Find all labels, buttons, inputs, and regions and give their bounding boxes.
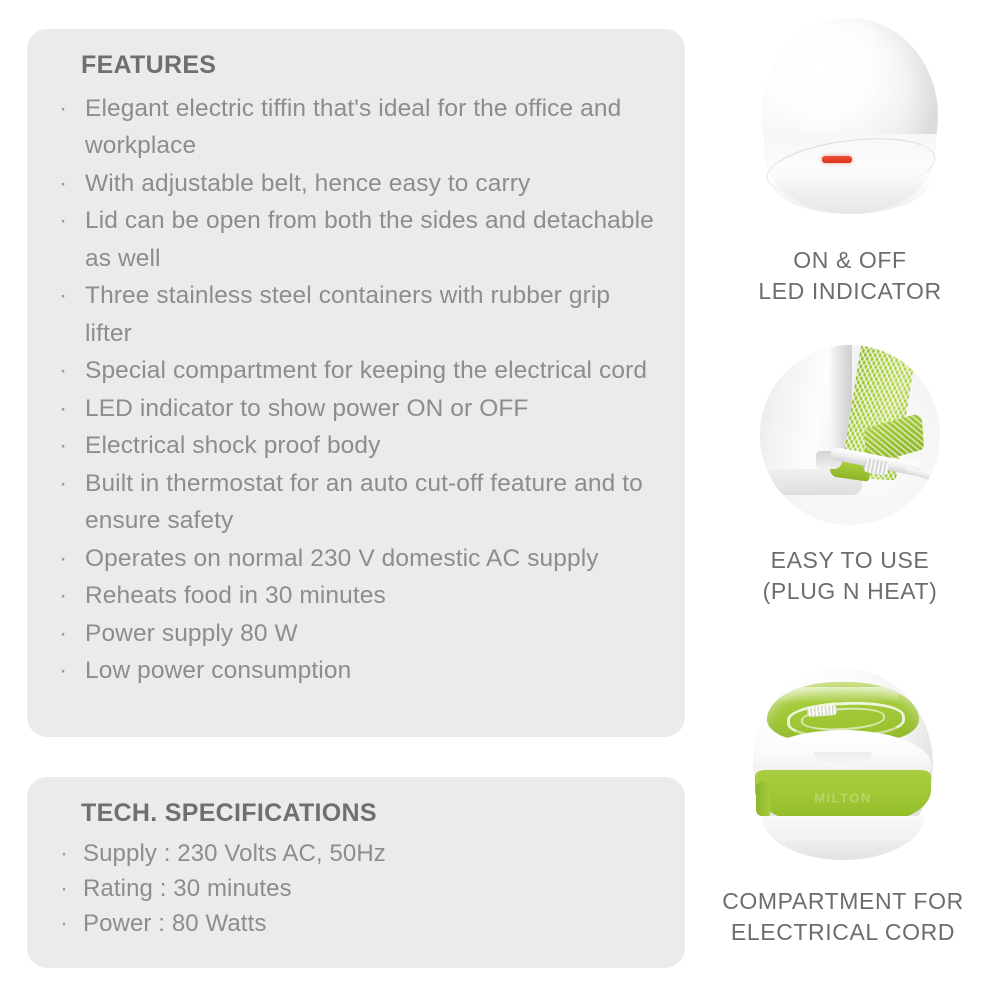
list-item-label: LED indicator to show power ON or OFF (85, 395, 529, 422)
bullet-dot-icon: · (60, 871, 68, 906)
bullet-dot-icon: · (59, 540, 67, 578)
plug-into-socket-with-green-belt-icon (760, 345, 940, 525)
bullet-dot-icon: · (59, 277, 67, 315)
tech-specifications-list: ·Supply : 230 Volts AC, 50Hz ·Rating : 3… (53, 836, 659, 941)
list-item: ·Electrical shock proof body (53, 427, 659, 465)
features-title: FEATURES (81, 52, 659, 80)
power-cord-wire (904, 467, 940, 485)
list-item-label: Lid can be open from both the sides and … (85, 207, 654, 272)
bullet-dot-icon: · (59, 90, 67, 128)
list-item: ·Elegant electric tiffin that's ideal fo… (53, 90, 659, 165)
tech-specifications-panel: TECH. SPECIFICATIONS ·Supply : 230 Volts… (27, 777, 685, 968)
lid-gloss-highlight (779, 687, 899, 703)
tech-specifications-title: TECH. SPECIFICATIONS (81, 800, 659, 828)
round-tiffin-with-green-cord-compartment-icon: MILTON (740, 664, 946, 864)
red-led-light-icon (822, 156, 852, 163)
list-item-label: Reheats food in 30 minutes (85, 582, 386, 609)
features-panel: FEATURES ·Elegant electric tiffin that's… (27, 29, 685, 737)
bullet-dot-icon: · (60, 836, 68, 871)
list-item: ·Low power consumption (53, 652, 659, 690)
list-item: ·Lid can be open from both the sides and… (53, 202, 659, 277)
list-item: ·Operates on normal 230 V domestic AC su… (53, 540, 659, 578)
list-item-label: Electrical shock proof body (85, 432, 380, 459)
bullet-dot-icon: · (59, 390, 67, 428)
list-item-label: Supply : 230 Volts AC, 50Hz (83, 840, 386, 867)
list-item: ·With adjustable belt, hence easy to car… (53, 165, 659, 203)
list-item-label: Operates on normal 230 V domestic AC sup… (85, 545, 599, 572)
figure-cord-compartment: MILTON COMPARTMENT FOR ELECTRICAL CORD (693, 664, 993, 948)
white-dome-with-red-led-icon (750, 14, 950, 219)
figure-easy-to-use: EASY TO USE (PLUG N HEAT) (700, 345, 1000, 607)
figure-led-indicator: ON & OFF LED INDICATOR (700, 14, 1000, 307)
list-item-label: Elegant electric tiffin that's ideal for… (85, 95, 621, 160)
list-item: ·Rating : 30 minutes (53, 871, 659, 906)
list-item-label: Power supply 80 W (85, 620, 298, 647)
bullet-dot-icon: · (59, 165, 67, 203)
bullet-dot-icon: · (59, 652, 67, 690)
list-item-label: Special compartment for keeping the elec… (85, 357, 647, 384)
cord-plug-head-icon (807, 705, 838, 717)
figure-caption: EASY TO USE (PLUG N HEAT) (700, 545, 1000, 607)
list-item-label: Built in thermostat for an auto cut-off … (85, 470, 643, 535)
bullet-dot-icon: · (59, 352, 67, 390)
bullet-dot-icon: · (59, 577, 67, 615)
list-item: ·Three stainless steel containers with r… (53, 277, 659, 352)
list-item-label: With adjustable belt, hence easy to carr… (85, 170, 530, 197)
bullet-dot-icon: · (59, 465, 67, 503)
list-item: ·Power supply 80 W (53, 615, 659, 653)
dome-bottom-shadow (770, 178, 930, 214)
list-item: ·Reheats food in 30 minutes (53, 577, 659, 615)
figure-caption: ON & OFF LED INDICATOR (700, 245, 1000, 307)
tiffin-bottom-shape (762, 816, 924, 860)
bullet-dot-icon: · (59, 202, 67, 240)
list-item: ·Built in thermostat for an auto cut-off… (53, 465, 659, 540)
list-item-label: Rating : 30 minutes (83, 875, 292, 902)
list-item: ·Power : 80 Watts (53, 906, 659, 941)
list-item-label: Three stainless steel containers with ru… (85, 282, 610, 347)
bullet-dot-icon: · (60, 906, 68, 941)
list-item: ·LED indicator to show power ON or OFF (53, 390, 659, 428)
bullet-dot-icon: · (59, 427, 67, 465)
list-item-label: Power : 80 Watts (83, 910, 266, 937)
brand-emboss-label: MILTON (814, 791, 872, 806)
bullet-dot-icon: · (59, 615, 67, 653)
features-list: ·Elegant electric tiffin that's ideal fo… (53, 90, 659, 690)
tiffin-side-clip (756, 782, 770, 816)
figure-caption: COMPARTMENT FOR ELECTRICAL CORD (693, 886, 993, 948)
list-item: ·Supply : 230 Volts AC, 50Hz (53, 836, 659, 871)
list-item: ·Special compartment for keeping the ele… (53, 352, 659, 390)
list-item-label: Low power consumption (85, 657, 351, 684)
